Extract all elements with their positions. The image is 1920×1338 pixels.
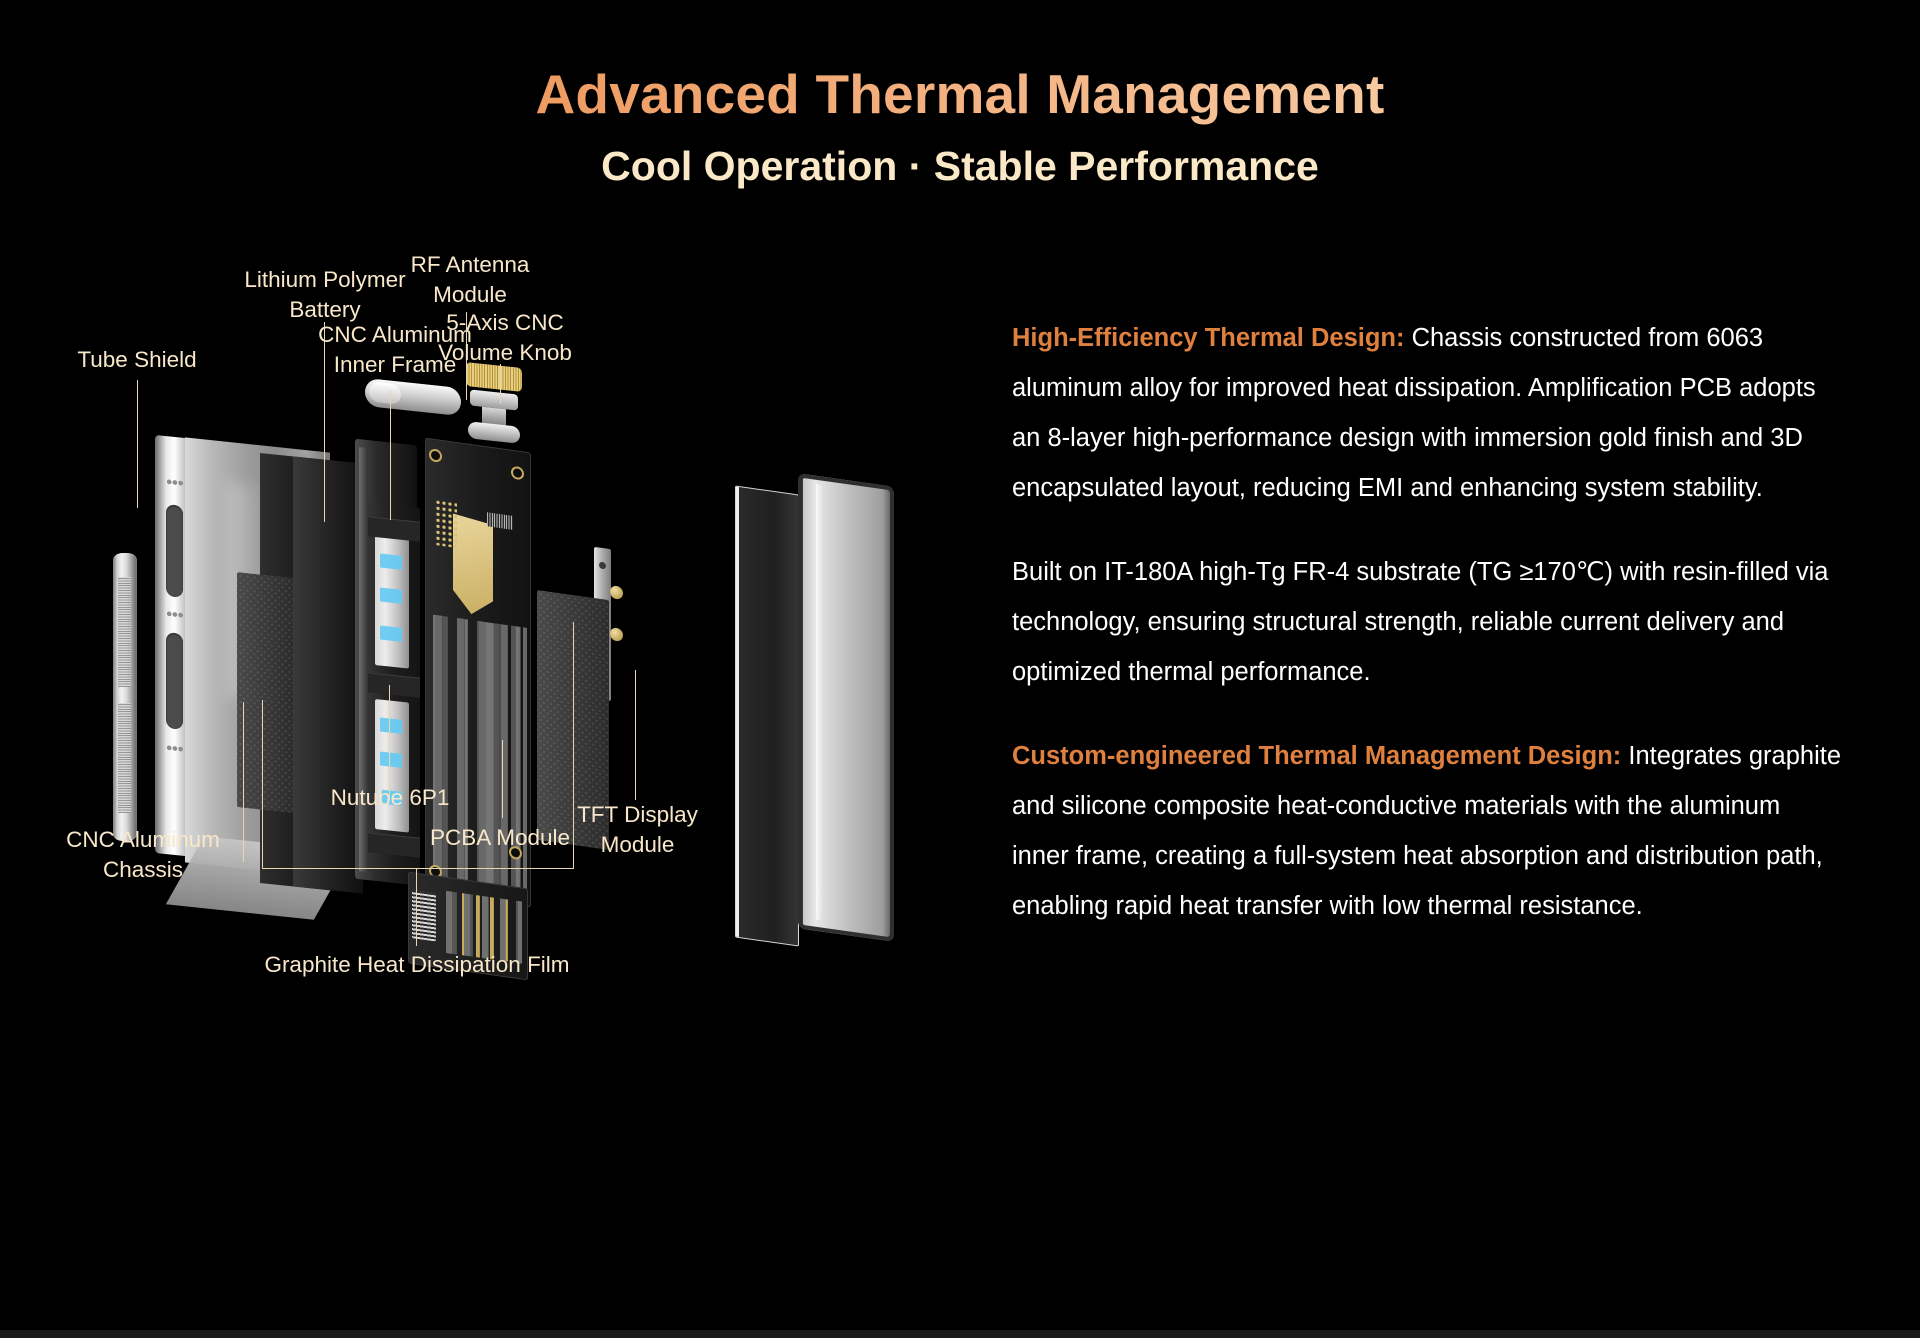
leader-line-graphite-stem	[416, 868, 417, 946]
leader-line-tube-shield	[137, 380, 138, 508]
bottom-edge-strip	[0, 1330, 1920, 1338]
part-nutube-6p1	[368, 502, 420, 877]
leader-line-graphite-left	[262, 700, 263, 868]
paragraph-lead-custom-thermal: Custom-engineered Thermal Management Des…	[1012, 742, 1621, 770]
part-tube-shield	[113, 553, 137, 841]
paragraph-substrate: Built on IT-180A high-Tg FR-4 substrate …	[1012, 547, 1842, 697]
paragraph-custom-thermal: Custom-engineered Thermal Management Des…	[1012, 731, 1842, 931]
paragraph-lead-high-efficiency: High-Efficiency Thermal Design:	[1012, 324, 1405, 352]
part-volume-knob-base	[468, 421, 520, 443]
part-lithium-battery	[293, 456, 363, 893]
thermal-copy-column: High-Efficiency Thermal Design: Chassis …	[1012, 313, 1842, 931]
part-graphite-film-left	[237, 572, 293, 813]
part-tft-backplate	[735, 486, 799, 947]
part-rf-antenna-module	[365, 378, 461, 416]
paragraph-body-substrate: Built on IT-180A high-Tg FR-4 substrate …	[1012, 558, 1828, 686]
leader-line-pcba	[502, 740, 503, 818]
label-nutube-6p1: Nutube 6P1	[300, 783, 480, 813]
label-graphite-film: Graphite Heat Dissipation Film	[207, 950, 627, 980]
part-tft-display-module	[798, 473, 894, 941]
label-tube-shield: Tube Shield	[42, 345, 232, 375]
paragraph-high-efficiency: High-Efficiency Thermal Design: Chassis …	[1012, 313, 1842, 513]
label-tft-display-module: TFT Display Module	[555, 800, 720, 860]
label-rf-antenna-module: RF Antenna Module	[370, 250, 570, 310]
slide-root: Advanced Thermal Management Cool Operati…	[0, 0, 1920, 1338]
leader-line-nutube	[389, 685, 390, 797]
label-volume-knob: 5-Axis CNC Volume Knob	[410, 308, 600, 368]
page-subtitle: Cool Operation · Stable Performance	[0, 143, 1920, 190]
page-title: Advanced Thermal Management	[0, 62, 1920, 126]
leader-bracket-graphite	[262, 868, 574, 869]
leader-line-cnc-chassis	[243, 702, 244, 862]
exploded-diagram: Tube Shield Lithium Polymer Battery CNC …	[0, 230, 1000, 1230]
leader-line-inner-frame	[390, 390, 391, 520]
label-cnc-chassis: CNC Aluminum Chassis	[48, 825, 238, 885]
part-pogo-pin-lower	[610, 627, 623, 642]
part-pogo-pin-upper	[610, 585, 623, 600]
leader-line-tft-display	[635, 670, 636, 800]
